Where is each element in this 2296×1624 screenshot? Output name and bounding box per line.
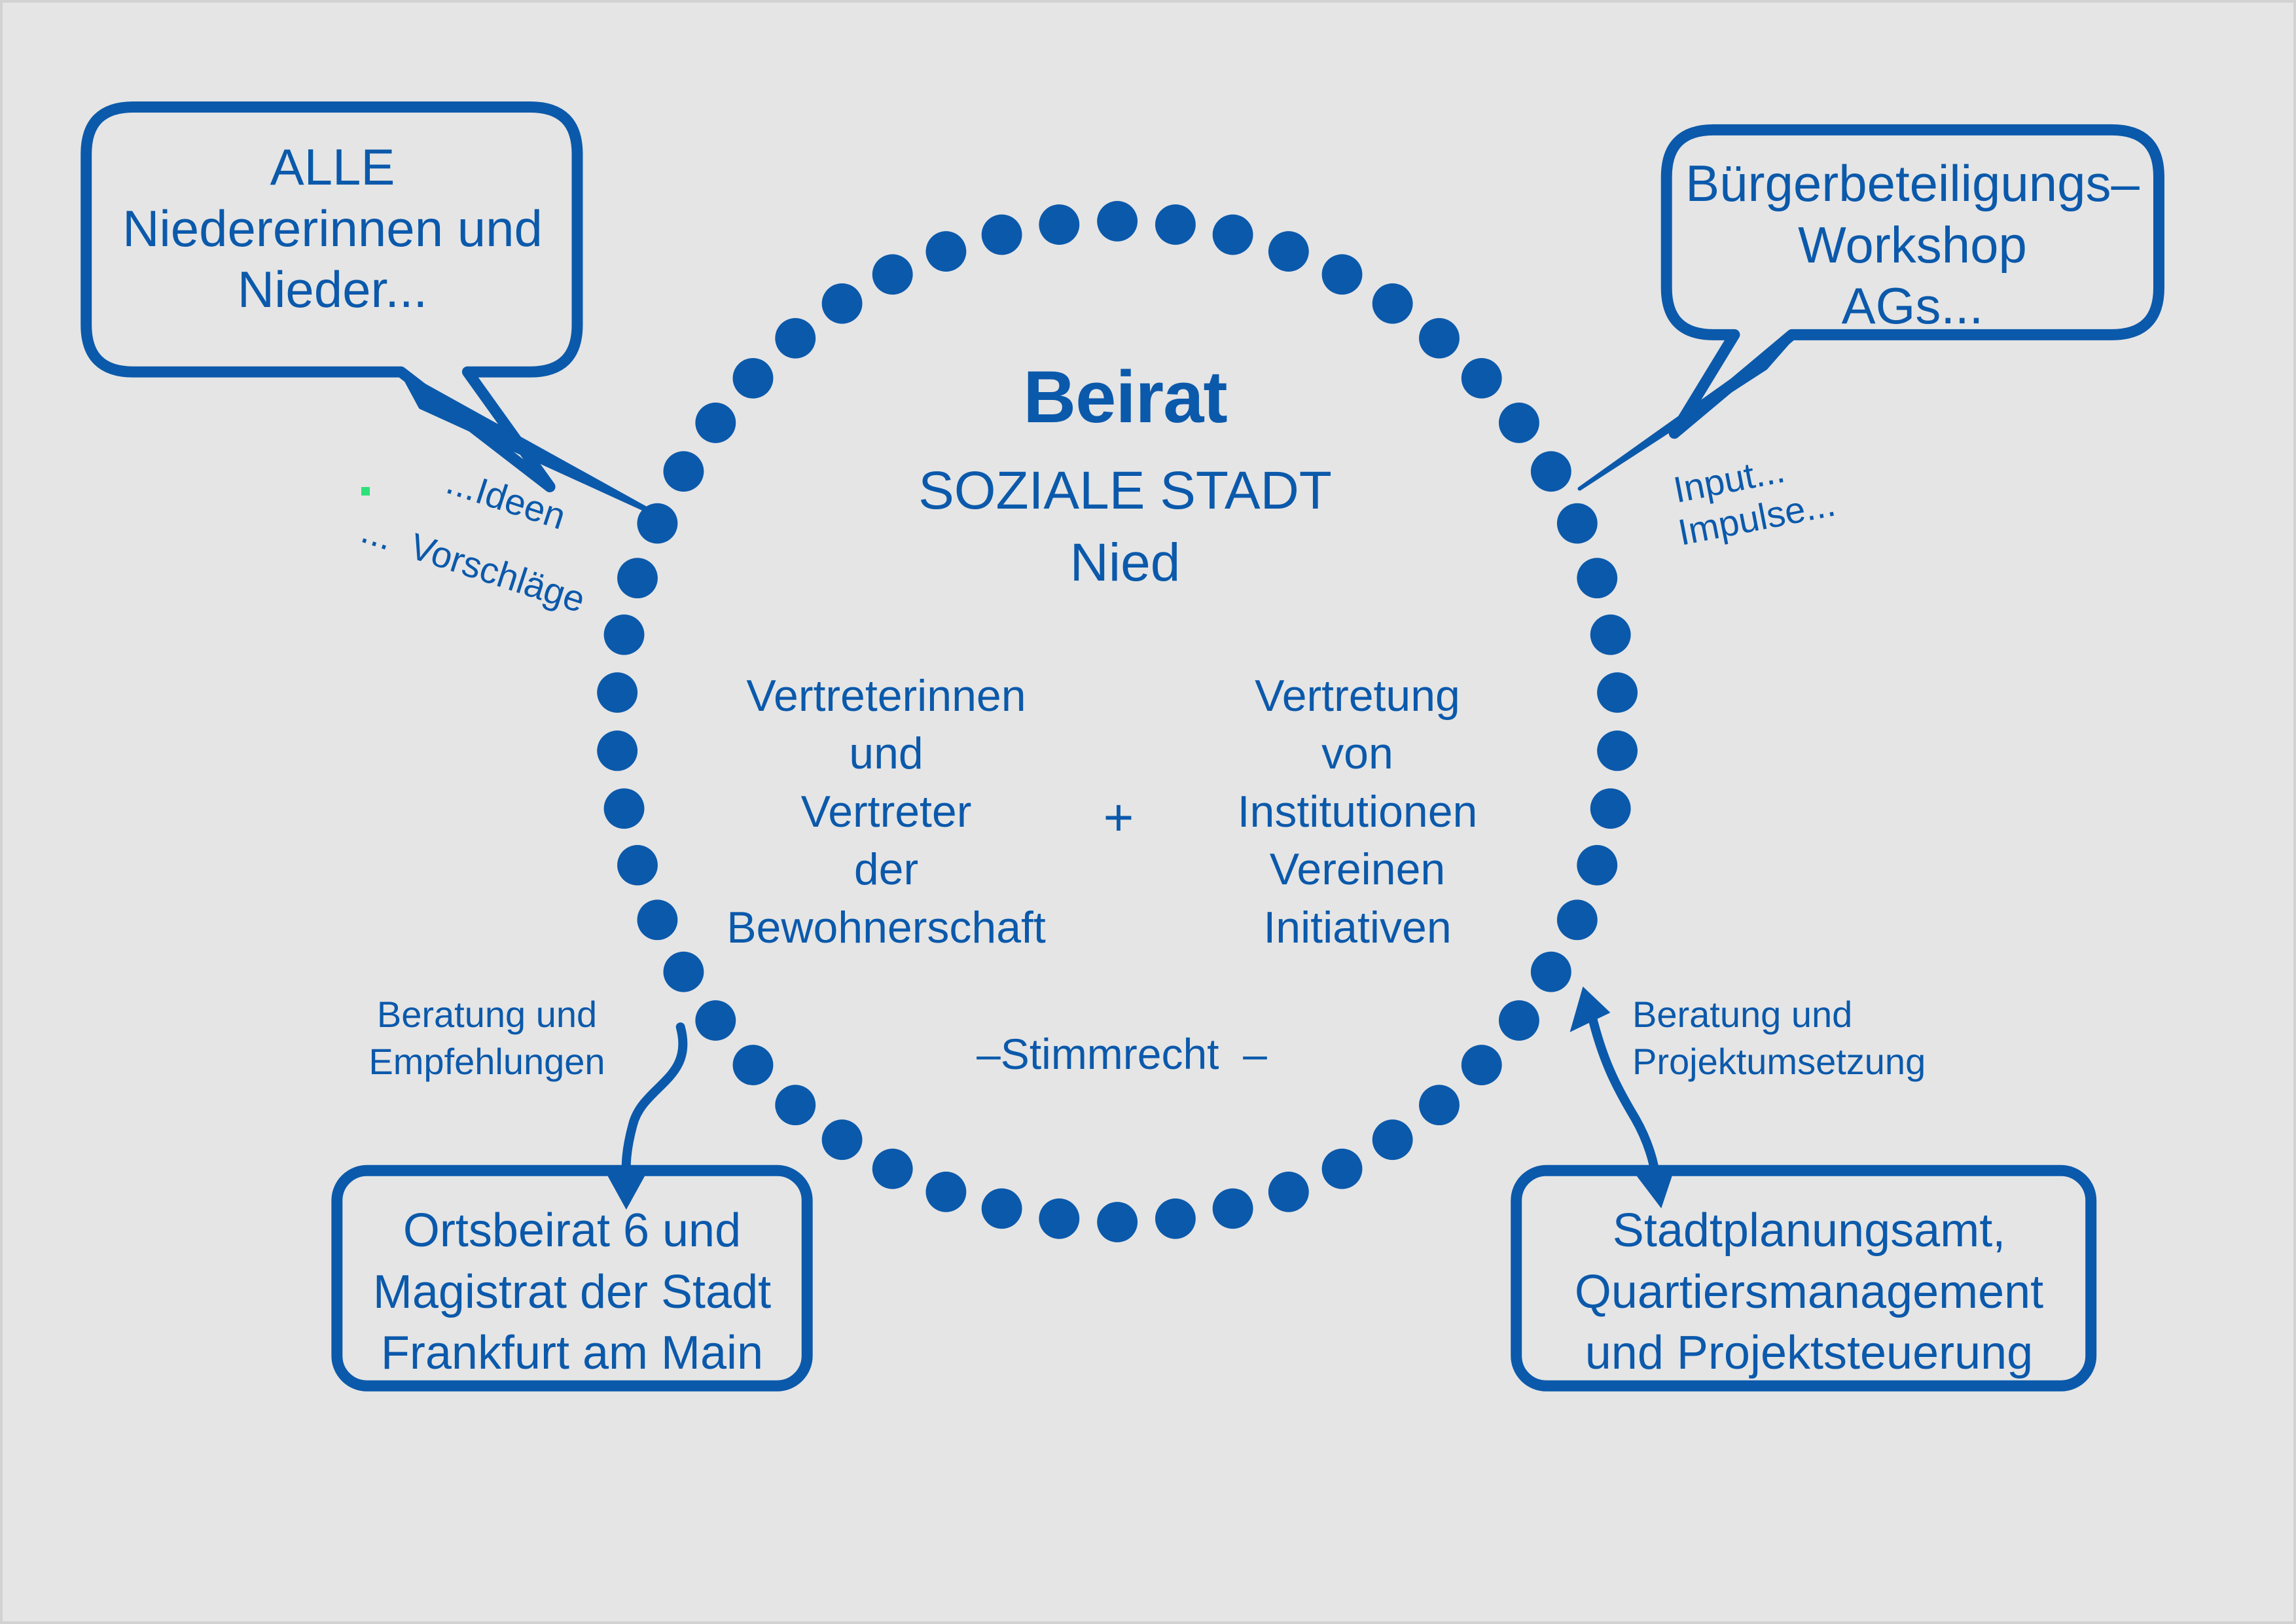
circle-dot (1462, 1045, 1502, 1085)
circle-dot (1590, 788, 1631, 829)
circle-dot (822, 283, 863, 324)
voting-rights-note: –Stimmrecht – (906, 1030, 1338, 1079)
circle-dot (872, 1149, 913, 1189)
circle-dot (1597, 672, 1638, 713)
green-speck-artifact (361, 487, 370, 496)
circle-dot (1322, 1149, 1363, 1189)
flow-label-beratung-projektumsetzung: Beratung und Projektumsetzung (1632, 991, 1960, 1085)
circle-dot (925, 231, 966, 272)
circle-dot (1590, 615, 1631, 655)
circle-dot (822, 1119, 863, 1160)
circle-dot (1039, 1199, 1079, 1239)
circle-dot (1372, 283, 1413, 324)
circle-dot (1097, 201, 1138, 242)
circle-dot (1213, 1188, 1253, 1229)
circle-dot (663, 451, 704, 492)
circle-dot (695, 403, 736, 443)
plus-icon: + (1079, 788, 1158, 847)
circle-dot (637, 899, 677, 940)
speech-bubble-left-label: ALLE Niedererinnen und Nieder... (86, 137, 579, 321)
circle-dot (695, 1000, 736, 1041)
circle-dot (1499, 1000, 1539, 1041)
circle-dot (597, 731, 637, 771)
circle-dot (1322, 254, 1363, 295)
circle-dot (1499, 403, 1539, 443)
circle-dot (1155, 1199, 1196, 1239)
circle-dot (982, 215, 1022, 255)
circle-dot (775, 1085, 816, 1125)
circle-dot (1097, 1202, 1138, 1242)
circle-dot (1557, 899, 1598, 940)
circle-dot (1039, 204, 1079, 245)
box-stadtplanungsamt-label: Stadtplanungsamt, Quartiersmanagement un… (1528, 1200, 2090, 1384)
circle-dot (1419, 1085, 1460, 1125)
circle-dot (1419, 318, 1460, 359)
circle-dot (663, 952, 704, 992)
speech-bubble-right-label: Bürgerbeteiligungs– Workshop AGs... (1670, 153, 2155, 337)
circle-dot (872, 254, 913, 295)
circle-dot (1531, 952, 1571, 992)
center-subtitle-line2: Nied (762, 533, 1488, 593)
circle-dot (617, 845, 658, 886)
circle-dot (1577, 558, 1617, 598)
flow-label-beratung-empfehlungen: Beratung und Empfehlungen (343, 991, 631, 1085)
circle-dot (733, 1045, 774, 1085)
circle-dot (1268, 1172, 1309, 1212)
circle-dot (1557, 503, 1598, 544)
circle-dot (1597, 731, 1638, 771)
circle-dot (1268, 231, 1309, 272)
diagram-canvas: ALLE Niedererinnen und Nieder... Bürgerb… (0, 0, 2296, 1624)
circle-dot (1577, 845, 1617, 886)
circle-dot (1155, 204, 1196, 245)
circle-dot (597, 672, 637, 713)
center-column-right: Vertretung von Institutionen Vereinen In… (1174, 667, 1541, 956)
circle-dot (925, 1172, 966, 1212)
page-title: Beirat (762, 356, 1488, 438)
circle-dot (604, 788, 645, 829)
center-subtitle-line1: SOZIALE STADT (762, 461, 1488, 521)
circle-dot (982, 1188, 1022, 1229)
circle-dot (1531, 451, 1571, 492)
circle-dot (1213, 215, 1253, 255)
box-ortsbeirat-label: Ortsbeirat 6 und Magistrat der Stadt Fra… (343, 1200, 801, 1384)
circle-dot (1372, 1119, 1413, 1160)
circle-dot (775, 318, 816, 359)
center-column-left: Vertreterinnen und Vertreter der Bewohne… (683, 667, 1089, 956)
